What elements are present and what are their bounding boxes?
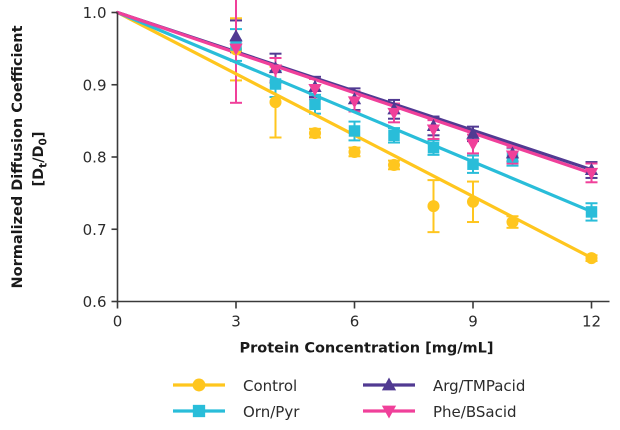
chart-legend: ControlArg/TMPacidOrn/PyrPhe/BSacid — [173, 377, 525, 421]
bracket-open: [D — [31, 168, 47, 187]
legend-entry-arg-tmpacid[interactable]: Arg/TMPacid — [363, 377, 525, 395]
triangle-down-marker — [466, 139, 479, 151]
legend-label: Phe/BSacid — [433, 403, 517, 421]
y-axis-title-line2: [Dt/D0] — [31, 132, 50, 187]
x-tick-label: 0 — [113, 313, 123, 331]
legend-label: Orn/Pyr — [243, 403, 300, 421]
y-tick-label: 0.7 — [83, 221, 107, 239]
y-axis-title-line1: Normalized Diffusion Coefficient — [10, 25, 26, 288]
circle-marker — [348, 146, 360, 158]
x-axis-title: Protein Concentration [mg/mL] — [239, 341, 493, 357]
markers-group — [229, 29, 598, 264]
chart-figure: 0.60.70.80.91.0036912Protein Concentrati… — [0, 0, 620, 430]
legend-label: Control — [243, 377, 297, 395]
square-marker — [467, 158, 478, 169]
circle-marker — [193, 379, 206, 392]
square-marker — [428, 142, 439, 153]
square-marker — [388, 130, 399, 141]
axis-spines — [118, 13, 610, 302]
x-tick-label: 6 — [350, 313, 360, 331]
circle-marker — [506, 216, 518, 228]
triangle-up-marker — [229, 29, 242, 41]
y-axis-units: [Dt/D0] — [31, 132, 50, 187]
error-bars-control — [230, 18, 598, 261]
y-tick-label: 0.9 — [83, 76, 107, 94]
x-tick-label: 3 — [231, 313, 241, 331]
legend-entry-phe-bsacid[interactable]: Phe/BSacid — [363, 403, 517, 421]
legend-entry-orn-pyr[interactable]: Orn/Pyr — [173, 403, 300, 421]
circle-marker — [388, 159, 400, 171]
axes-layer — [112, 13, 610, 309]
x-tick-label: 9 — [468, 313, 478, 331]
diffusion-coefficient-scatter-chart: 0.60.70.80.91.0036912Protein Concentrati… — [0, 0, 620, 430]
fit-line-orn-pyr — [118, 13, 592, 212]
error-bars-group — [230, 0, 598, 261]
y-tick-label: 0.6 — [83, 293, 107, 311]
square-marker — [309, 99, 320, 110]
circle-marker — [269, 96, 281, 108]
y-tick-label: 0.8 — [83, 149, 107, 167]
legend-label: Arg/TMPacid — [433, 377, 525, 395]
square-marker — [349, 125, 360, 136]
y-tick-label: 1.0 — [83, 4, 107, 22]
slash-d: /D — [31, 145, 47, 162]
y-axis-title-text: Normalized Diffusion Coefficient — [10, 25, 26, 288]
x-tick-label: 12 — [582, 313, 601, 331]
circle-marker — [585, 252, 597, 264]
bracket-close: ] — [31, 132, 47, 139]
square-marker — [193, 405, 205, 417]
circle-marker — [309, 127, 321, 139]
square-marker — [586, 206, 597, 217]
circle-marker — [467, 196, 479, 208]
axis-labels-layer: 0.60.70.80.91.0036912Protein Concentrati… — [10, 4, 601, 357]
data-series-layer — [118, 0, 599, 264]
square-marker — [270, 78, 281, 89]
legend-entry-control[interactable]: Control — [173, 377, 297, 395]
circle-marker — [427, 200, 439, 212]
subscript-zero: 0 — [38, 138, 50, 145]
